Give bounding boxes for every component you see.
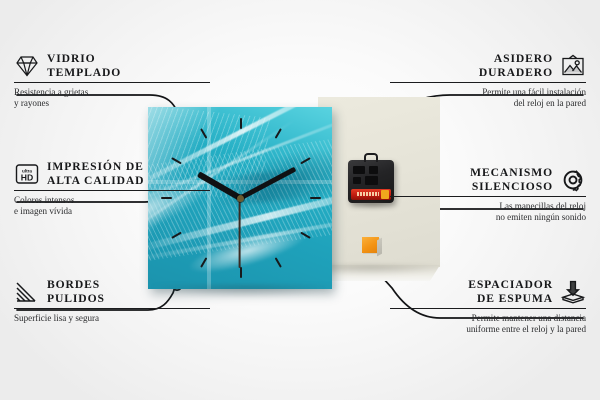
clock-movement (348, 160, 394, 203)
feature-divider (390, 308, 586, 309)
feature-divider (14, 190, 210, 191)
feature-title-line2: DURADERO (479, 66, 553, 80)
feature-title-line1: ASIDERO (479, 52, 553, 66)
feature-desc-line1: Superficie lisa y segura (14, 313, 210, 324)
feature-desc-line2: no emiten ningún sonido (390, 212, 586, 223)
wall-panel-shadow (322, 265, 444, 275)
feature-espaciador-de-espuma: ESPACIADOR DE ESPUMA Permite mantener un… (390, 278, 586, 335)
arrow-down-onto-stack-icon (560, 280, 586, 304)
gear-icon (560, 168, 586, 192)
svg-text:HD: HD (21, 172, 33, 182)
foam-spacer (362, 237, 379, 253)
feature-desc-line1: Permite mantener una distancia (390, 313, 586, 324)
feature-desc-line1: Colores intensos (14, 195, 210, 206)
feature-desc-line1: Permite una fácil instalación (390, 87, 586, 98)
feature-desc-line1: Las manecillas del reloj (390, 201, 586, 212)
feature-divider (390, 82, 586, 83)
feature-desc-line1: Resistencia a grietas (14, 87, 210, 98)
hanging-picture-frame-icon (560, 54, 586, 78)
feature-title-line1: VIDRIO (47, 52, 121, 66)
feature-title-line1: BORDES (47, 278, 105, 292)
feature-title-line2: PULIDOS (47, 292, 105, 306)
infographic-canvas: VIDRIO TEMPLADO Resistencia a grietas y … (0, 0, 600, 400)
feature-title-line2: SILENCIOSO (470, 180, 553, 194)
feature-mecanismo-silencioso: MECANISMO SILENCIOSO Las manecillas del … (390, 166, 586, 223)
feature-vidrio-templado: VIDRIO TEMPLADO Resistencia a grietas y … (14, 52, 210, 109)
feature-divider (390, 196, 586, 197)
feature-bordes-pulidos: BORDES PULIDOS Superficie lisa y segura (14, 278, 210, 324)
movement-hanger-hook (364, 153, 378, 162)
feature-title-line1: IMPRESIÓN DE (47, 160, 144, 174)
feature-desc-line2: y rayones (14, 98, 210, 109)
feature-title-line2: TEMPLADO (47, 66, 121, 80)
feature-desc-line2: e imagen vívida (14, 206, 210, 217)
feature-impresion-alta-calidad: ultra HD IMPRESIÓN DE ALTA CALIDAD Color… (14, 160, 210, 217)
feature-divider (14, 82, 210, 83)
battery (351, 189, 391, 200)
feature-title-line1: MECANISMO (470, 166, 553, 180)
feature-desc-line2: del reloj en la pared (390, 98, 586, 109)
feature-desc-line2: uniforme entre el reloj y la pared (390, 324, 586, 335)
diamond-icon (14, 54, 40, 78)
polished-edge-icon (14, 280, 40, 304)
ultra-hd-icon: ultra HD (14, 162, 40, 186)
clock-minute-hand (239, 167, 296, 201)
feature-title-line2: DE ESPUMA (468, 292, 553, 306)
feature-divider (14, 308, 210, 309)
feature-asidero-duradero: ASIDERO DURADERO Permite una fácil insta… (390, 52, 586, 109)
clock-second-hand (239, 198, 241, 268)
feature-title-line2: ALTA CALIDAD (47, 174, 144, 188)
clock-center-cap (237, 195, 244, 202)
feature-title-line1: ESPACIADOR (468, 278, 553, 292)
